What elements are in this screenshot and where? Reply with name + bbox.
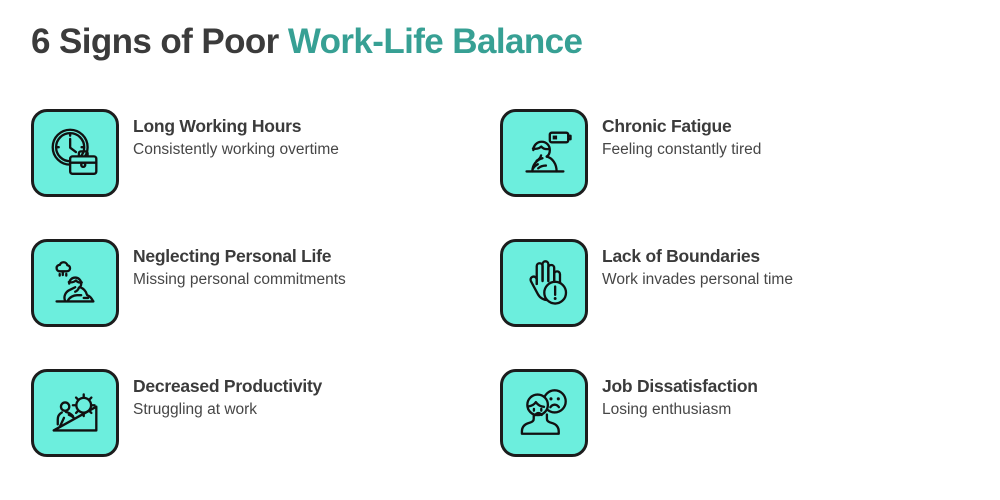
sign-text: Neglecting Personal Life Missing persona…	[119, 239, 346, 290]
sign-description: Feeling constantly tired	[602, 140, 761, 160]
sign-text: Lack of Boundaries Work invades personal…	[588, 239, 793, 290]
sign-text: Chronic Fatigue Feeling constantly tired	[588, 109, 761, 160]
sign-item-decreased-productivity[interactable]: Decreased Productivity Struggling at wor…	[31, 369, 500, 499]
sign-item-long-working-hours[interactable]: Long Working Hours Consistently working …	[31, 109, 500, 239]
sign-description: Losing enthusiasm	[602, 400, 758, 420]
page-title-accent: Work-Life Balance	[288, 22, 583, 61]
stop-hand-warning-icon	[513, 252, 575, 314]
pushing-gear-uphill-icon	[44, 382, 106, 444]
sign-item-neglecting-personal-life[interactable]: Neglecting Personal Life Missing persona…	[31, 239, 500, 369]
tired-person-battery-icon	[513, 122, 575, 184]
sign-item-chronic-fatigue[interactable]: Chronic Fatigue Feeling constantly tired	[500, 109, 969, 239]
sign-item-job-dissatisfaction[interactable]: Job Dissatisfaction Losing enthusiasm	[500, 369, 969, 499]
signs-grid: Long Working Hours Consistently working …	[31, 109, 969, 499]
sad-sitting-person-icon	[44, 252, 106, 314]
sign-description: Missing personal commitments	[133, 270, 346, 290]
sign-title: Job Dissatisfaction	[602, 376, 758, 397]
sign-description: Struggling at work	[133, 400, 322, 420]
sign-title: Long Working Hours	[133, 116, 339, 137]
sign-title: Neglecting Personal Life	[133, 246, 346, 267]
unhappy-face-person-icon	[513, 382, 575, 444]
icon-tile	[31, 109, 119, 197]
clock-briefcase-icon	[44, 122, 106, 184]
sign-description: Consistently working overtime	[133, 140, 339, 160]
infographic-canvas: 6 Signs of Poor Work-Life Balance	[0, 0, 1000, 500]
sign-text: Decreased Productivity Struggling at wor…	[119, 369, 322, 420]
signs-row: Long Working Hours Consistently working …	[31, 109, 969, 239]
sign-title: Decreased Productivity	[133, 376, 322, 397]
icon-tile	[31, 239, 119, 327]
sign-title: Lack of Boundaries	[602, 246, 793, 267]
signs-row: Neglecting Personal Life Missing persona…	[31, 239, 969, 369]
page-title-primary: 6 Signs of Poor	[31, 22, 279, 61]
icon-tile	[500, 239, 588, 327]
icon-tile	[500, 369, 588, 457]
icon-tile	[31, 369, 119, 457]
sign-text: Job Dissatisfaction Losing enthusiasm	[588, 369, 758, 420]
sign-title: Chronic Fatigue	[602, 116, 761, 137]
sign-text: Long Working Hours Consistently working …	[119, 109, 339, 160]
sign-item-lack-of-boundaries[interactable]: Lack of Boundaries Work invades personal…	[500, 239, 969, 369]
page-title: 6 Signs of Poor Work-Life Balance	[31, 20, 582, 64]
sign-description: Work invades personal time	[602, 270, 793, 290]
signs-row: Decreased Productivity Struggling at wor…	[31, 369, 969, 499]
icon-tile	[500, 109, 588, 197]
